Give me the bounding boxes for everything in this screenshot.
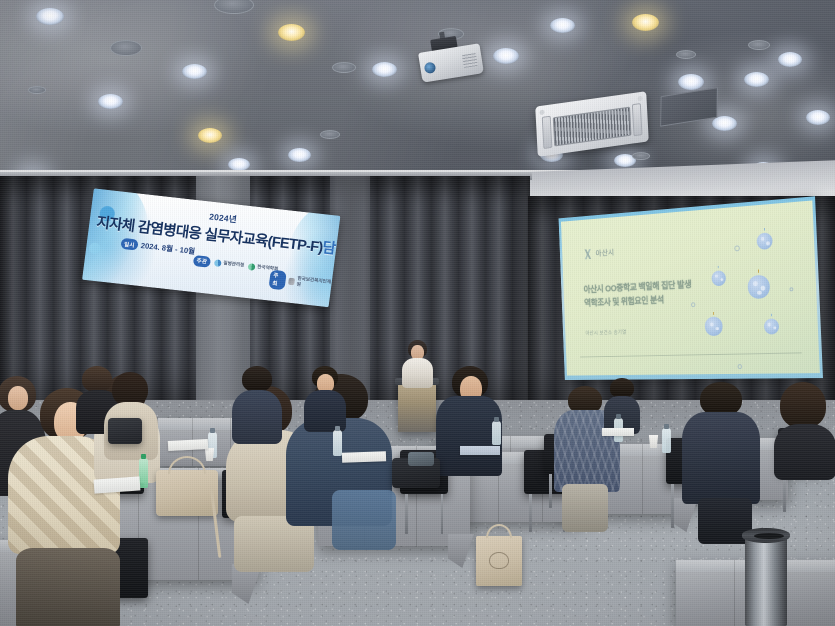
ceiling-downlight [372,62,397,77]
ceiling-speaker-icon [110,40,142,56]
attendee [302,366,348,428]
host-name-1: 한국보건복지인재원 [296,276,332,292]
projection-screen: 아산시 아산시 OO중학교 백일해 집단 발생 역학조사 및 위험요인 분석 아… [559,196,823,380]
attendee [684,382,758,512]
document-paper[interactable] [342,451,386,463]
slide-content: 아산시 아산시 OO중학교 백일해 집단 발생 역학조사 및 위험요인 분석 아… [561,200,820,375]
water-bottle[interactable] [662,428,671,453]
ceiling-speaker-icon [632,152,650,160]
host-logo-1: 한국보건복지인재원 [288,275,332,292]
ceiling-downlight [550,18,575,33]
virus-icon [759,313,784,339]
handbag[interactable] [108,418,142,444]
bubble-icon [691,302,696,307]
banner-organizer-row: 주관 질병관리청 한국역학회 [193,255,279,275]
slide-logo-text: 아산시 [595,247,614,258]
attendee [100,370,160,458]
water-bottle[interactable] [492,421,501,445]
virus-icon [700,312,728,341]
ceiling-speaker-icon [748,40,770,50]
banner-date-label: 일시 [120,238,138,251]
ceiling-downlight [678,74,704,90]
trash-opening [754,533,784,539]
trash-bin[interactable] [745,535,787,626]
presenter-body [402,358,433,388]
attendee-lower-body [16,548,120,626]
organizer-name-1: 질병관리청 [223,261,245,269]
ceiling-downlight-warm [198,128,222,143]
slide-presenter: 아산시 보건소 송기열 [585,328,626,336]
org-mark-icon [248,263,256,271]
attendee [232,366,282,442]
bag-pouch[interactable] [408,452,434,466]
city-logo-icon [582,249,593,260]
ceiling-downlight [288,148,311,162]
ceiling-downlight [182,64,207,79]
slide-logo: 아산시 [582,247,614,259]
presenter [398,340,436,392]
ceiling-downlight-warm [278,24,305,41]
ceiling-speaker-icon [332,62,356,73]
banner-host-label: 주최 [268,270,286,290]
document-paper[interactable] [460,446,500,455]
bubble-icon [737,364,742,369]
bubble-icon [734,245,740,251]
ceiling-speaker-icon [28,86,46,94]
water-bottle[interactable] [333,430,342,456]
document-paper[interactable] [602,428,634,436]
org-mark-icon [214,259,222,267]
bubble-icon [789,287,793,291]
ceiling-downlight-warm [632,14,659,31]
ceiling-speaker-icon [214,0,254,14]
ceiling-downlight [744,72,769,87]
ceiling-downlight [36,8,64,25]
ceiling-downlight [712,116,737,131]
conference-room-photo: 2024년 지자체 감염병대응 실무자교육(FETP-F)담당자 과정 일시 2… [0,0,835,626]
ceiling-air-vent [660,87,718,127]
ceiling-speaker-icon [320,130,340,139]
attendee [776,382,834,474]
virus-icon [742,268,776,305]
ceiling-projector [418,43,484,82]
slide-divider [580,352,802,357]
attendee [436,366,502,474]
organizer-logo-1: 질병관리청 [214,259,245,269]
document-paper[interactable] [168,439,208,451]
ceiling-speaker-icon [676,50,696,59]
ceiling-downlight [778,52,802,67]
banner-date-value: 2024. 8월 - 10월 [140,240,196,257]
ceiling-downlight [806,110,830,125]
banner-org-label: 주관 [193,255,211,268]
water-bottle[interactable] [139,458,148,488]
ceiling-downlight [98,94,123,109]
ceiling-downlight [493,48,519,64]
handbag[interactable] [476,536,522,586]
ceiling-air-conditioner [535,91,649,157]
virus-icon [752,227,778,255]
org-mark-icon [288,278,295,286]
handbag[interactable] [156,470,218,516]
cat-face-icon [489,552,509,569]
